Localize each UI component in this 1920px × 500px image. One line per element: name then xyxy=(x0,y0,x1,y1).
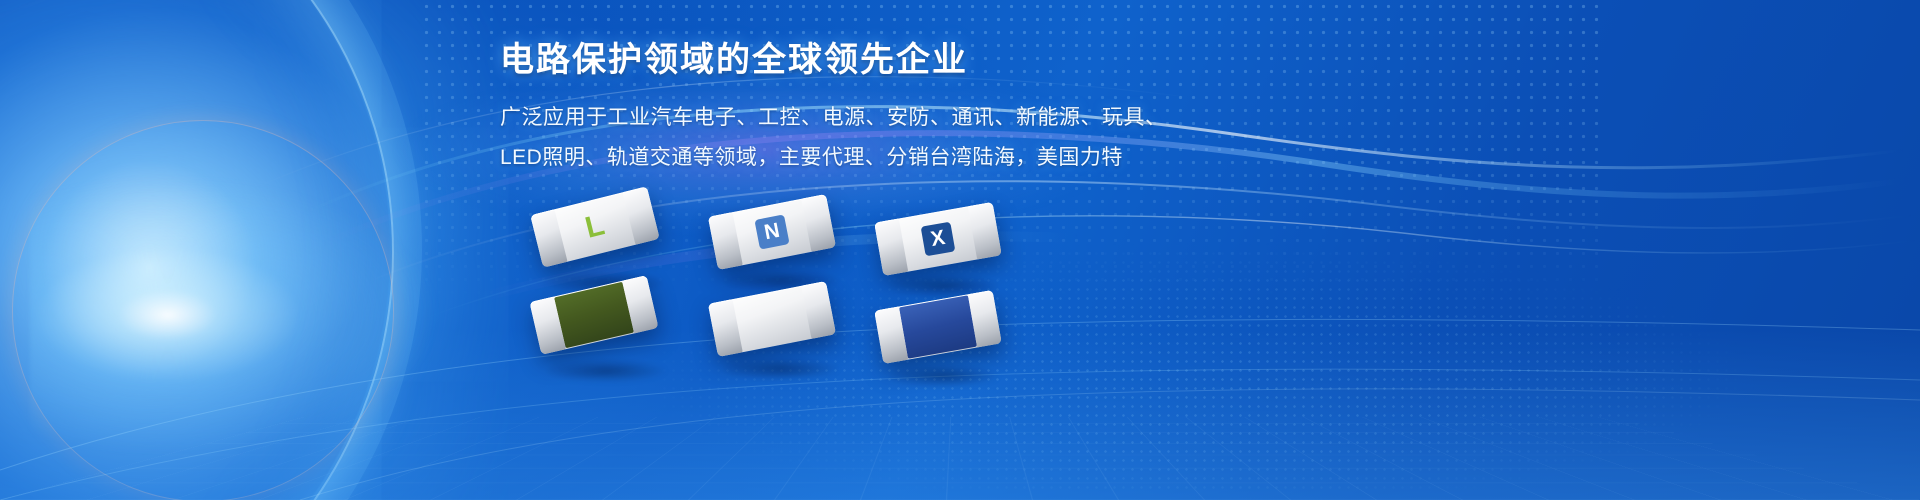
chip-face: X xyxy=(899,206,977,271)
product-chip-l[interactable]: L xyxy=(530,186,659,267)
hero-text-block: 电路保护领域的全球领先企业 广泛应用于工业汽车电子、工控、电源、安防、通讯、新能… xyxy=(500,38,1500,178)
chip-olive-coating xyxy=(554,282,634,348)
chip-shadow xyxy=(545,360,667,382)
chip-marking-x: X xyxy=(921,222,956,257)
subtitle-line-2: LED照明、轨道交通等领域，主要代理、分销台湾陆海，美国力特 xyxy=(500,138,1500,178)
chip-marking-l: L xyxy=(582,210,607,244)
chip-shadow xyxy=(888,365,1000,387)
chip-face: N xyxy=(732,199,811,265)
chip-shadow xyxy=(722,358,840,380)
chip-marking-n: N xyxy=(754,214,789,249)
chip-face: L xyxy=(555,192,636,261)
product-chip-white[interactable] xyxy=(708,281,836,357)
product-chip-x[interactable]: X xyxy=(874,202,1002,276)
subtitle-group: 广泛应用于工业汽车电子、工控、电源、安防、通讯、新能源、玩具、 LED照明、轨道… xyxy=(500,98,1500,178)
product-chip-n[interactable]: N xyxy=(708,194,836,270)
product-chip-blue[interactable] xyxy=(874,290,1002,364)
subtitle-line-1: 广泛应用于工业汽车电子、工控、电源、安防、通讯、新能源、玩具、 xyxy=(500,98,1500,138)
hero-banner: 电路保护领域的全球领先企业 广泛应用于工业汽车电子、工控、电源、安防、通讯、新能… xyxy=(0,0,1920,500)
page-title: 电路保护领域的全球领先企业 xyxy=(500,38,1500,82)
